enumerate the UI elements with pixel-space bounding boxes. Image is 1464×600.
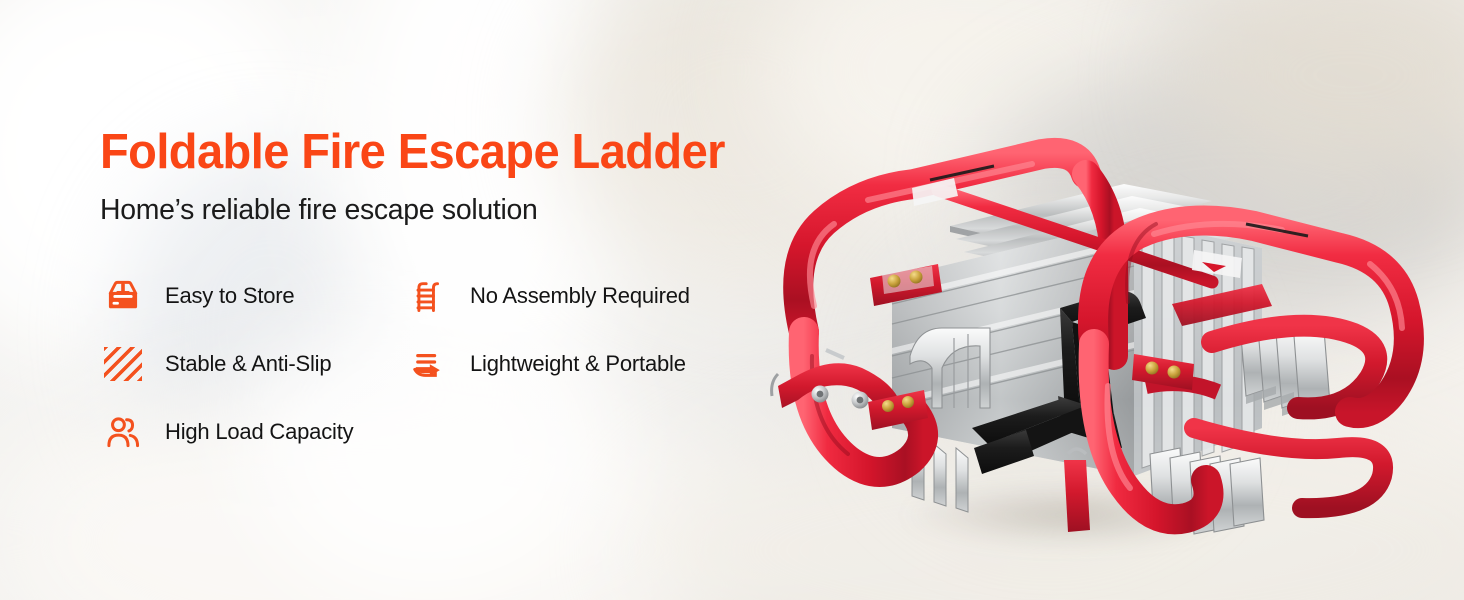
ladder-icon (405, 273, 451, 319)
feature-label: No Assembly Required (470, 283, 690, 309)
feature-row: Easy to Store No Assembly Require (100, 262, 740, 330)
feature-item-easy-to-store: Easy to Store (100, 262, 405, 330)
feature-item-no-assembly-required: No Assembly Required (405, 262, 725, 330)
feature-label: Stable & Anti-Slip (165, 351, 331, 377)
hand-lift-icon (405, 341, 451, 387)
feature-label: Lightweight & Portable (470, 351, 686, 377)
feature-item-high-load-capacity: High Load Capacity (100, 398, 405, 466)
feature-item-lightweight-portable: Lightweight & Portable (405, 330, 725, 398)
feature-label: High Load Capacity (165, 419, 353, 445)
inbox-download-icon (100, 273, 146, 319)
feature-row: Stable & Anti-Slip Lightweight & Portabl… (100, 330, 740, 398)
feature-item-stable-anti-slip: Stable & Anti-Slip (100, 330, 405, 398)
diagonal-hatch-icon (100, 341, 146, 387)
two-people-icon (100, 409, 146, 455)
copy-column: Foldable Fire Escape Ladder Home’s relia… (0, 0, 760, 600)
feature-list: Easy to Store No Assembly Require (100, 262, 740, 466)
page-subtitle: Home’s reliable fire escape solution (100, 194, 538, 227)
feature-label: Easy to Store (165, 283, 294, 309)
feature-spacer (405, 398, 725, 466)
page-title: Foldable Fire Escape Ladder (100, 124, 725, 180)
product-image-folded-fire-escape-ladder (742, 56, 1442, 576)
product-banner: Foldable Fire Escape Ladder Home’s relia… (0, 0, 1464, 600)
feature-row: High Load Capacity (100, 398, 740, 466)
